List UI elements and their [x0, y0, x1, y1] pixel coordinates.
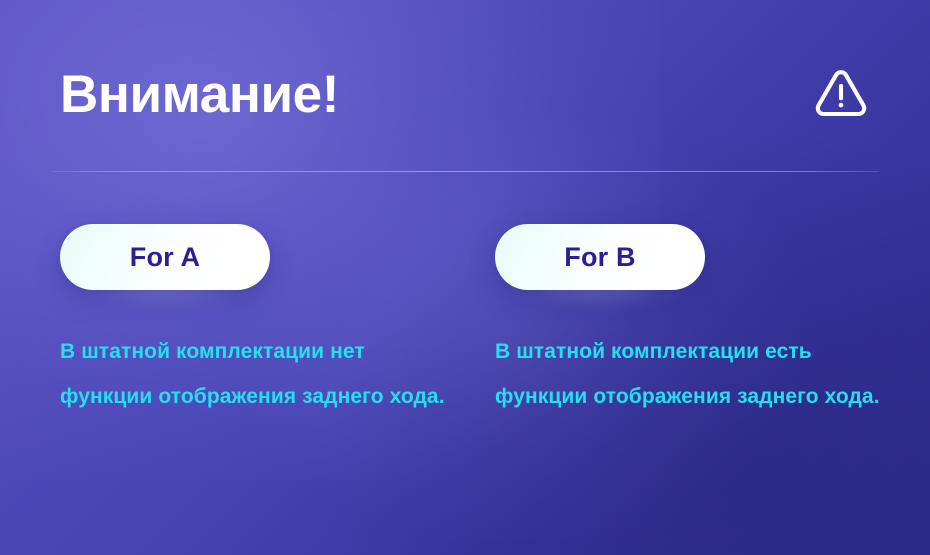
column-for-b: For B В штатной комплектации есть функци… [495, 205, 895, 289]
column-body-text-for-b: В штатной комплектации есть функции отоб… [495, 329, 887, 419]
column-for-a: For A В штатной комплектации нет функции… [60, 205, 460, 289]
slide-canvas: Внимание! For A В штатной комплектации н… [0, 0, 930, 555]
header: Внимание! [60, 55, 870, 135]
pill-button-for-b[interactable]: For B [495, 224, 705, 290]
pill-label-for-b: For B [564, 244, 636, 271]
page-title: Внимание! [60, 55, 339, 135]
header-divider [52, 171, 879, 172]
pill-button-for-a[interactable]: For A [60, 224, 270, 290]
pill-wrapper-for-b: For B [495, 205, 705, 289]
pill-label-for-a: For A [130, 244, 201, 271]
column-body-text-for-a: В штатной комплектации нет функции отобр… [60, 329, 448, 419]
warning-triangle-icon [814, 65, 868, 119]
pill-wrapper-for-a: For A [60, 205, 270, 289]
